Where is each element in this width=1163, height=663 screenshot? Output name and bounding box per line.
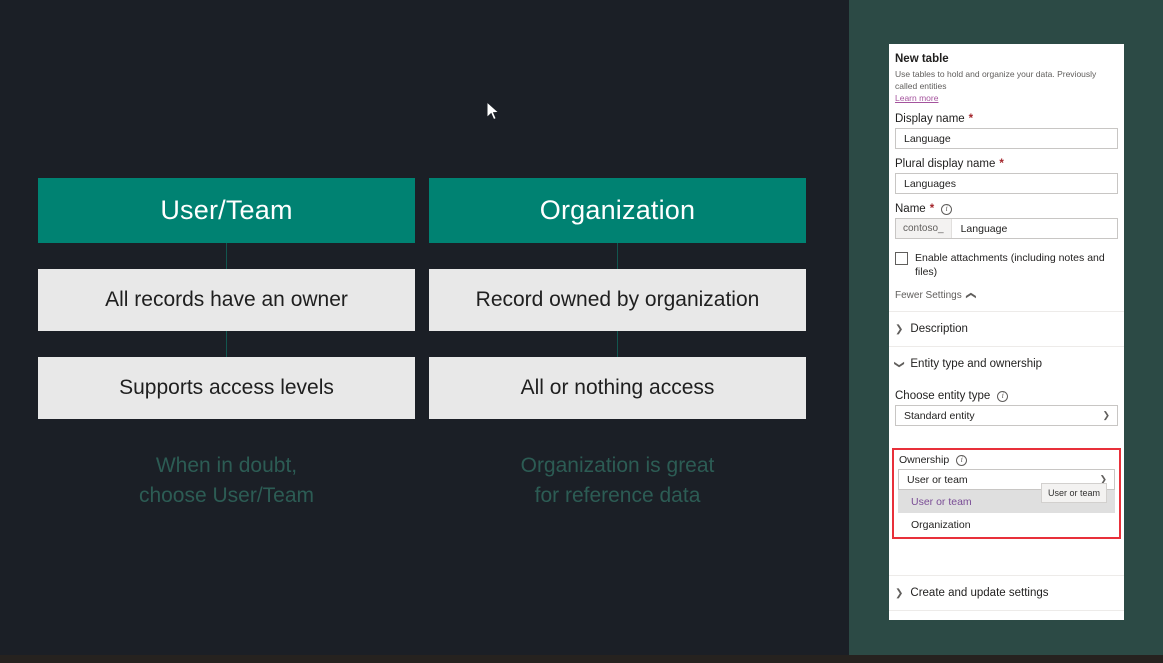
column-header-organization: Organization (429, 178, 806, 243)
ownership-label: Ownership i (894, 450, 1119, 469)
ownership-option-label: User or team (911, 496, 972, 508)
section-description-label: Description (910, 323, 968, 335)
name-label-text: Name (895, 203, 926, 215)
column-item-box: All or nothing access (429, 357, 806, 419)
info-icon[interactable]: i (956, 455, 967, 466)
display-name-value: Language (904, 133, 951, 145)
slide-canvas: User/Team All records have an owner Supp… (0, 0, 849, 655)
enable-attachments-row[interactable]: Enable attachments (including notes and … (889, 239, 1124, 279)
ownership-tooltip: User or team (1041, 483, 1107, 503)
plural-display-name-value: Languages (904, 178, 956, 190)
plural-display-name-label: Plural display name * (889, 149, 1124, 173)
connector-line (226, 243, 227, 270)
column-header-label: Organization (540, 195, 696, 226)
column-caption: Organization is great for reference data (429, 451, 806, 511)
ownership-value: User or team (907, 474, 968, 486)
column-item-label: Record owned by organization (476, 288, 760, 312)
section-description[interactable]: ❯ Description (889, 311, 1124, 346)
plural-display-name-input[interactable]: Languages (895, 173, 1118, 194)
ownership-option-label: Organization (911, 519, 971, 531)
caption-line: for reference data (429, 481, 806, 511)
choose-entity-type-label-text: Choose entity type (895, 390, 990, 402)
section-entity-type-ownership-label: Entity type and ownership (910, 358, 1042, 370)
section-create-update-settings-label: Create and update settings (910, 587, 1048, 599)
learn-more-link[interactable]: Learn more (889, 93, 944, 103)
required-asterisk: * (930, 203, 934, 215)
panel-subtitle: Use tables to hold and organize your dat… (889, 65, 1124, 92)
new-table-panel: New table Use tables to hold and organiz… (889, 44, 1124, 620)
name-input[interactable]: contoso_ Language (895, 218, 1118, 239)
column-item-label: All records have an owner (105, 288, 348, 312)
name-label: Name * i (889, 194, 1124, 218)
column-caption: When in doubt, choose User/Team (38, 451, 415, 511)
caption-line: Organization is great (429, 451, 806, 481)
required-asterisk: * (999, 158, 1003, 170)
column-item-label: All or nothing access (521, 376, 715, 400)
app-bottom-border (849, 655, 1163, 663)
mouse-cursor (486, 101, 500, 122)
column-header-label: User/Team (160, 195, 292, 226)
column-item-box: Record owned by organization (429, 269, 806, 331)
caption-line: choose User/Team (38, 481, 415, 511)
connector-line (617, 243, 618, 270)
info-icon[interactable]: i (997, 391, 1008, 402)
column-header-user-team: User/Team (38, 178, 415, 243)
connector-line (617, 331, 618, 358)
entity-type-body: Choose entity type i Standard entity ❯ (889, 381, 1124, 430)
display-name-input[interactable]: Language (895, 128, 1118, 149)
column-item-box: All records have an owner (38, 269, 415, 331)
fewer-settings-label: Fewer Settings (895, 290, 962, 301)
column-item-box: Supports access levels (38, 357, 415, 419)
section-create-update-settings[interactable]: ❯ Create and update settings (889, 575, 1124, 610)
display-name-label-text: Display name (895, 113, 965, 125)
panel-title: New table (889, 44, 1124, 65)
presentation-slide: User/Team All records have an owner Supp… (0, 0, 849, 663)
column-item-label: Supports access levels (119, 376, 334, 400)
connector-line (226, 331, 227, 358)
chevron-right-icon: ❯ (895, 588, 903, 599)
plural-display-name-label-text: Plural display name (895, 158, 995, 170)
display-name-label: Display name * (889, 104, 1124, 128)
choose-entity-type-label: Choose entity type i (889, 381, 1124, 405)
section-entity-type-ownership[interactable]: ❯ Entity type and ownership (889, 346, 1124, 381)
ownership-label-text: Ownership (899, 454, 949, 466)
chevron-up-icon: ❯ (965, 291, 976, 299)
chevron-down-icon: ❯ (1102, 410, 1110, 421)
entity-type-value: Standard entity (904, 410, 975, 422)
section-dynamics-365-outlook[interactable]: ❯ Dynamics 365 for Outlook (889, 610, 1124, 620)
screenshot-root: User/Team All records have an owner Supp… (0, 0, 1163, 663)
chevron-down-icon: ❯ (894, 360, 905, 368)
caption-line: When in doubt, (38, 451, 415, 481)
required-asterisk: * (969, 113, 973, 125)
checkbox-icon[interactable] (895, 252, 908, 265)
info-icon[interactable]: i (941, 204, 952, 215)
entity-type-dropdown[interactable]: Standard entity ❯ (895, 405, 1118, 426)
ownership-option-organization[interactable]: Organization (898, 513, 1115, 536)
ownership-highlight-region: Ownership i User or team ❯ User or team … (892, 448, 1121, 539)
fewer-settings-toggle[interactable]: Fewer Settings ❯ (889, 279, 1124, 311)
name-prefix: contoso_ (896, 219, 952, 238)
name-value: Language (952, 223, 1008, 235)
slide-bottom-border (0, 655, 849, 663)
enable-attachments-label: Enable attachments (including notes and … (915, 251, 1118, 279)
chevron-right-icon: ❯ (895, 324, 903, 335)
